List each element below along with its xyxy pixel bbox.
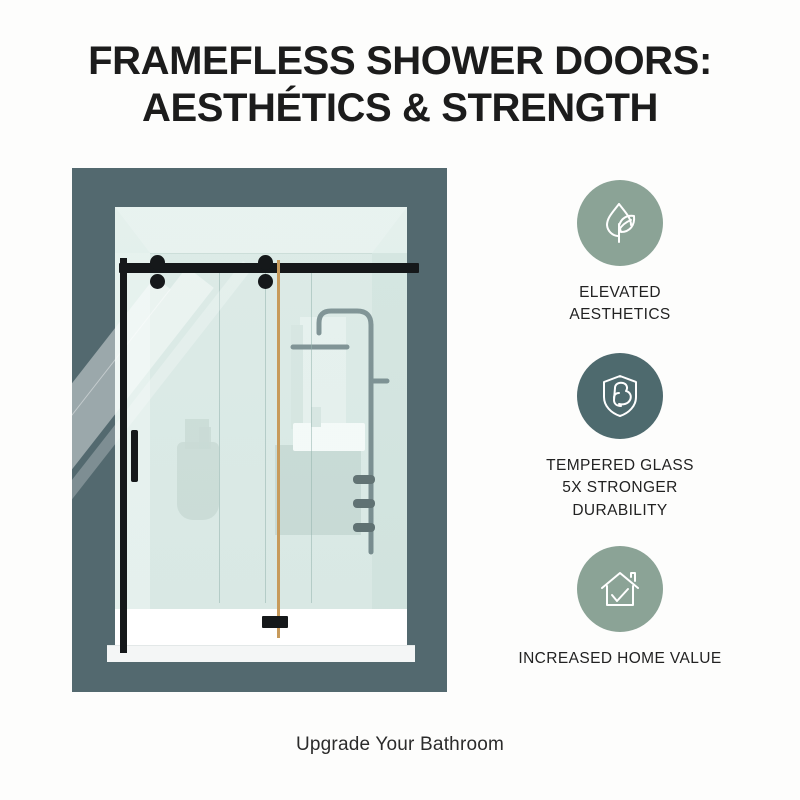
footer-caption: Upgrade Your Bathroom: [0, 734, 800, 756]
door-vertical-post: [120, 258, 127, 653]
glass-panel-seam: [219, 263, 220, 603]
benefit-item-elevated-aesthetics: ELEVATED AESTHETICS: [470, 180, 770, 327]
benefit-icon-bubble: [577, 546, 663, 632]
roller-wheel-icon: [150, 255, 165, 270]
door-bottom-guide: [262, 616, 288, 628]
leaf-icon: [595, 198, 645, 248]
shield-bicep-icon: [595, 371, 645, 421]
benefit-icon-bubble: [577, 180, 663, 266]
benefit-label: TEMPERED GLASS 5X STRONGER DURABILITY: [470, 455, 770, 522]
roller-wheel-icon: [258, 274, 273, 289]
shower-illustration: [72, 168, 447, 692]
house-check-icon: [595, 564, 645, 614]
title-line-2: AESTHÉTICS & STRENGTH: [0, 85, 800, 132]
benefit-item-tempered-glass: TEMPERED GLASS 5X STRONGER DURABILITY: [470, 353, 770, 522]
door-handle: [131, 430, 138, 482]
benefit-item-home-value: INCREASED HOME VALUE: [470, 546, 770, 670]
page-title: FRAMEFLESS SHOWER DOORS: AESTHÉTICS & ST…: [0, 38, 800, 132]
title-line-1: FRAMEFLESS SHOWER DOORS:: [0, 38, 800, 85]
roller-wheel-icon: [150, 274, 165, 289]
glass-panel-seam: [311, 263, 312, 603]
door-edge-strip: [277, 260, 280, 638]
shower-base-front-edge: [107, 645, 415, 662]
benefit-label: ELEVATED AESTHETICS: [470, 282, 770, 327]
glass-panel-seam: [265, 263, 266, 603]
benefit-label: INCREASED HOME VALUE: [470, 648, 770, 670]
benefit-icon-bubble: [577, 353, 663, 439]
infographic-page: FRAMEFLESS SHOWER DOORS: AESTHÉTICS & ST…: [0, 0, 800, 800]
benefits-list: ELEVATED AESTHETICS TEMPERED GLASS 5X ST…: [470, 180, 770, 693]
roller-wheel-icon: [258, 255, 273, 270]
